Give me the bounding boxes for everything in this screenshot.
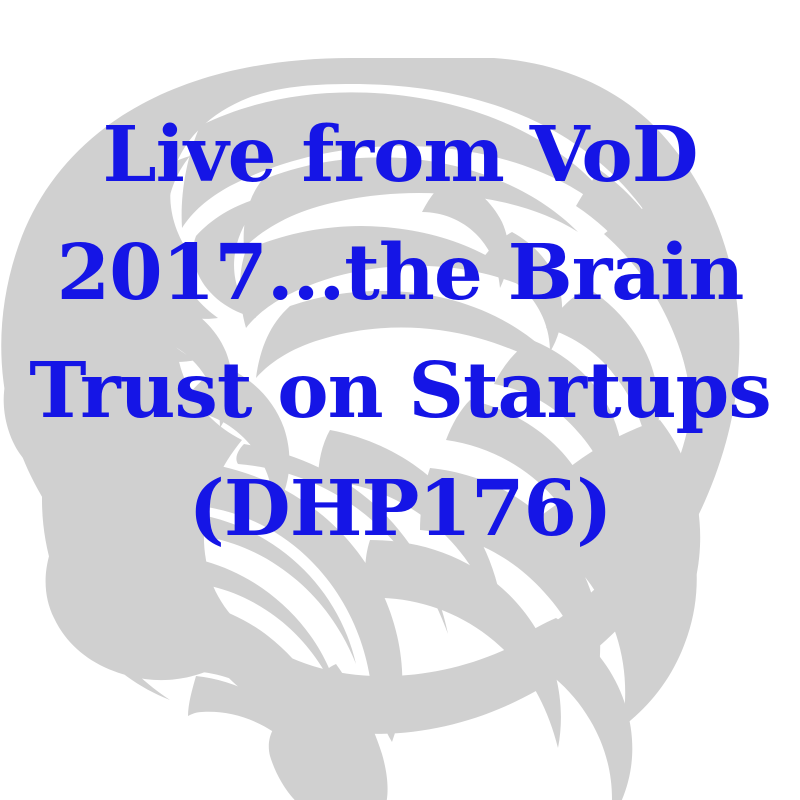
title-line-4: (DHP176) <box>188 450 611 568</box>
title-overlay: Live from VoD 2017...the Brain Trust on … <box>0 0 800 800</box>
title-line-2: 2017...the Brain <box>57 214 744 332</box>
title-line-1: Live from VoD <box>102 96 697 214</box>
title-line-3: Trust on Startups <box>29 332 771 450</box>
podcast-cover-image: Live from VoD 2017...the Brain Trust on … <box>0 0 800 800</box>
